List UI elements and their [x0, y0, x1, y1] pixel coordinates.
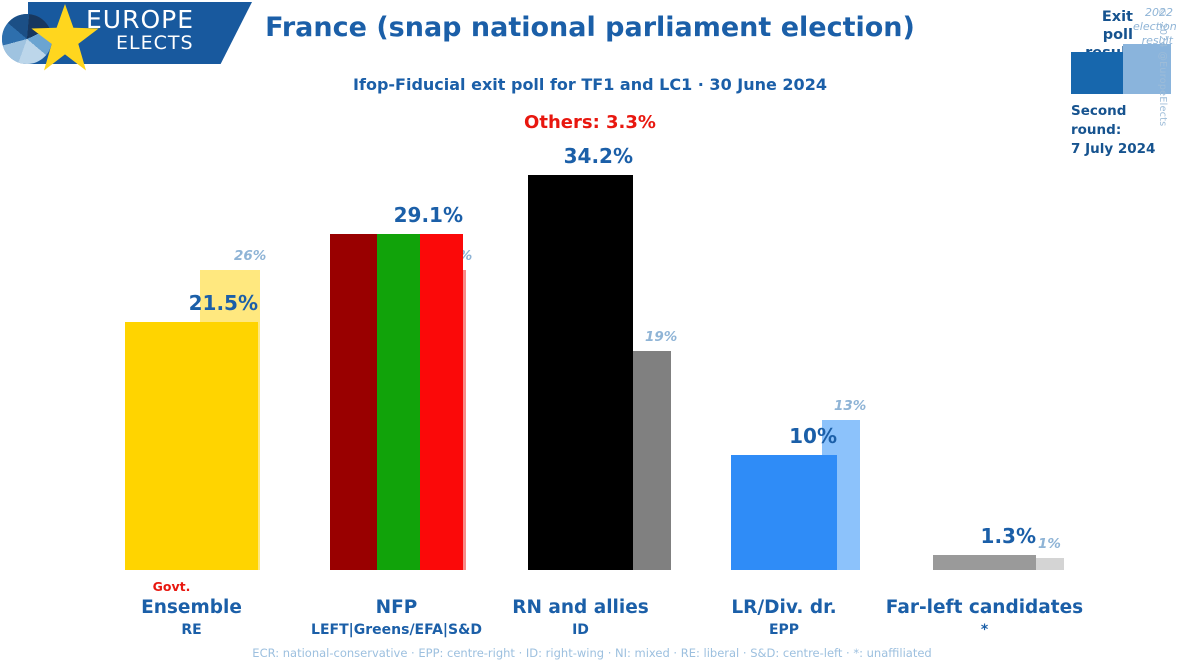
exit-poll-value-label: 1.3% — [893, 524, 1036, 548]
exit-poll-bar — [731, 455, 837, 571]
prev-result-value-label: 13% — [834, 398, 866, 414]
exit-poll-bar — [528, 175, 633, 570]
exit-poll-value-label: 10% — [691, 424, 837, 448]
exit-poll-bar-segment — [330, 234, 377, 570]
category-label: Far-left candidates* — [858, 595, 1111, 640]
exit-poll-bar — [125, 322, 258, 570]
exit-poll-bar-segment — [125, 322, 258, 570]
prev-result-value-label: 26% — [234, 248, 266, 264]
prev-result-bar-segment — [1035, 558, 1064, 570]
exit-poll-value-label: 34.2% — [488, 144, 633, 168]
bar-chart: 26%21.5%Govt.EnsembleRE26%29.1%NFPLEFT|G… — [0, 0, 1184, 666]
category-group: * — [858, 620, 1111, 640]
exit-poll-value-label: 21.5% — [85, 291, 258, 315]
exit-poll-bar-segment — [420, 234, 463, 570]
exit-poll-value-label: 29.1% — [290, 203, 463, 227]
exit-poll-bar — [330, 234, 463, 570]
prev-result-value-label: 1% — [1038, 536, 1061, 552]
prev-result-bar — [1035, 558, 1064, 570]
exit-poll-bar — [933, 555, 1036, 570]
exit-poll-bar-segment — [528, 175, 633, 570]
prev-result-bar-segment — [633, 351, 671, 570]
exit-poll-bar-segment — [933, 555, 1036, 570]
party-group-legend-footnote: ECR: national-conservative · EPP: centre… — [0, 646, 1184, 660]
prev-result-bar — [633, 351, 671, 570]
exit-poll-bar-segment — [731, 455, 837, 571]
prev-result-value-label: 19% — [645, 329, 677, 345]
government-badge: Govt. — [85, 579, 258, 594]
exit-poll-bar-segment — [377, 234, 420, 570]
category-name: Far-left candidates — [858, 595, 1111, 620]
